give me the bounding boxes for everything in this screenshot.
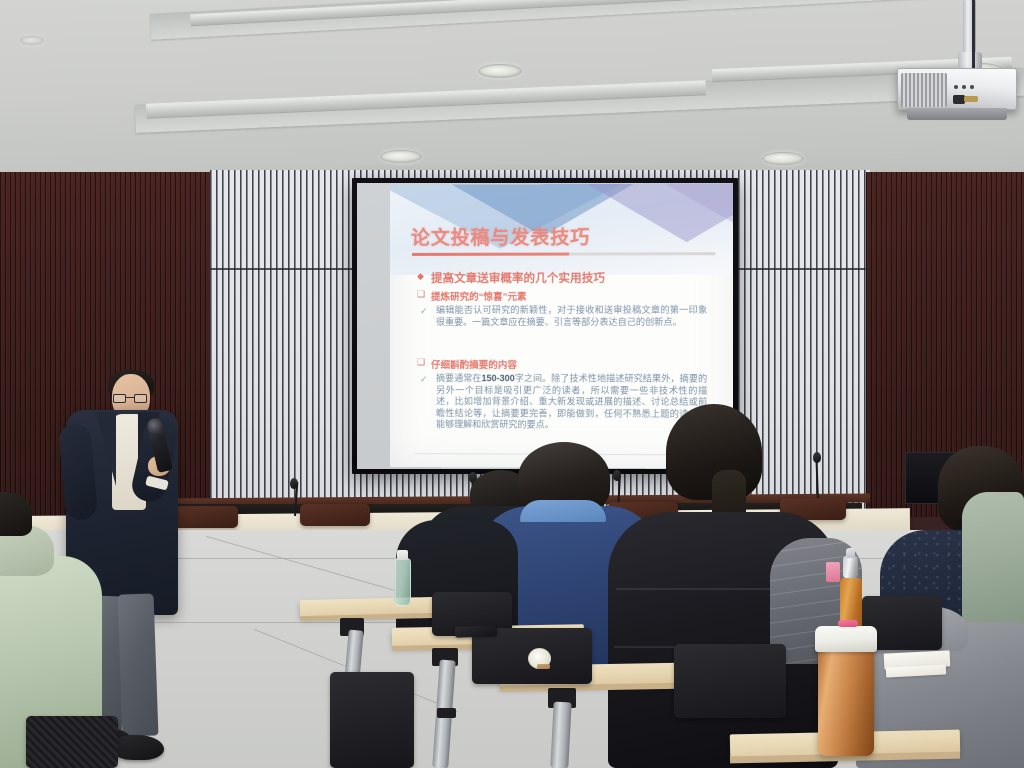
projector-indicator-2 (962, 85, 966, 89)
slide-heading-3: 仔细斟酌摘要的内容 (431, 357, 517, 371)
water-bottle-cap (397, 550, 408, 560)
eyeglasses-icon (113, 394, 147, 403)
check-bullet-icon: ✓ (420, 305, 436, 316)
presenter-lapel-left (96, 412, 116, 486)
slide-body-text-3-pre: 摘要通常在 (436, 373, 481, 383)
slide-triangle-far-right (664, 183, 733, 230)
check-bullet-icon-2: ✓ (420, 373, 436, 384)
eyeglasses-bridge (126, 397, 134, 398)
smartphone[interactable] (455, 625, 497, 637)
slide-body-emphasis: 150-300 (481, 373, 514, 383)
ceiling-downlight-3 (762, 152, 804, 165)
desk-center-joint-2 (437, 708, 456, 718)
steel-thermos-neck (843, 556, 858, 578)
steel-thermos-cap (846, 548, 855, 558)
projector-indicator-3 (970, 85, 974, 89)
microphone-head-1 (290, 478, 298, 489)
presenter-leg-right (118, 593, 159, 736)
projector-cable (972, 0, 998, 74)
attendee-blue-blazer-collar (520, 500, 606, 522)
projector-cable-plug (964, 96, 978, 102)
pink-item-behind-thermos (826, 562, 840, 582)
ceiling-downlight-5 (20, 36, 44, 45)
pink-sticker (537, 664, 550, 669)
front-chair-1 (172, 506, 238, 528)
presenter-shoe-right (112, 735, 164, 760)
slide-body-row-3: ✓ 摘要通常在150-300字之间。除了技术性地描述研究结果外，摘要的另外一个目… (420, 373, 715, 432)
travel-tumbler-lid (815, 626, 877, 652)
square-bullet-icon: ❑ (417, 289, 431, 300)
slide-bullet-row-1: ◆ 提高文章送审概率的几个实用技巧 (417, 269, 721, 286)
projector-body (897, 68, 1017, 110)
slide-body-text-3: 摘要通常在150-300字之间。除了技术性地描述研究结果外，摘要的另外一个目标是… (436, 373, 707, 432)
eyeglasses-lens-left (113, 394, 126, 403)
microphone-head-3 (613, 470, 621, 481)
chair-bottom-left (26, 716, 118, 768)
slide-body-row-2: ✓ 编辑能否认可研究的新颖性，对于接收和送审投稿文章的第一印象很重要。一篇文章应… (420, 305, 715, 328)
desk-right-leg (550, 702, 571, 768)
square-bullet-icon-2: ❑ (417, 357, 431, 368)
projector-underside (907, 108, 1007, 120)
slide-bullet-row-2: ❑ 提炼研究的“惊喜”元素 (417, 289, 721, 303)
chair-right (674, 644, 786, 718)
microphone-head-4 (813, 452, 821, 463)
travel-tumbler[interactable] (818, 638, 874, 756)
slide-bullet-row-3: ❑ 仔细斟酌摘要的内容 (417, 357, 721, 371)
projector-indicator-1 (954, 85, 958, 89)
slide-title: 论文投稿与发表技巧 (411, 222, 590, 250)
slide-heading-1: 提高文章送审概率的几个实用技巧 (431, 270, 605, 286)
eyeglasses-lens-right (134, 394, 147, 403)
projector-vent (901, 73, 947, 107)
front-chair-2 (300, 504, 370, 526)
slide-body-text-2: 编辑能否认可研究的新颖性，对于接收和送审投稿文章的第一印象很重要。一篇文章应在摘… (436, 305, 707, 328)
slide-heading-2: 提炼研究的“惊喜”元素 (431, 289, 527, 303)
lecture-hall-scene: 论文投稿与发表技巧 ◆ 提高文章送审概率的几个实用技巧 ❑ 提炼研究的“惊喜”元… (0, 0, 1024, 768)
travel-tumbler-tab[interactable] (838, 620, 858, 627)
ceiling-downlight-1 (478, 64, 522, 78)
ceiling-downlight-2 (380, 150, 422, 163)
diamond-bullet-icon: ◆ (417, 270, 431, 282)
chair-mid-left (330, 672, 414, 768)
water-bottle[interactable] (394, 558, 411, 606)
